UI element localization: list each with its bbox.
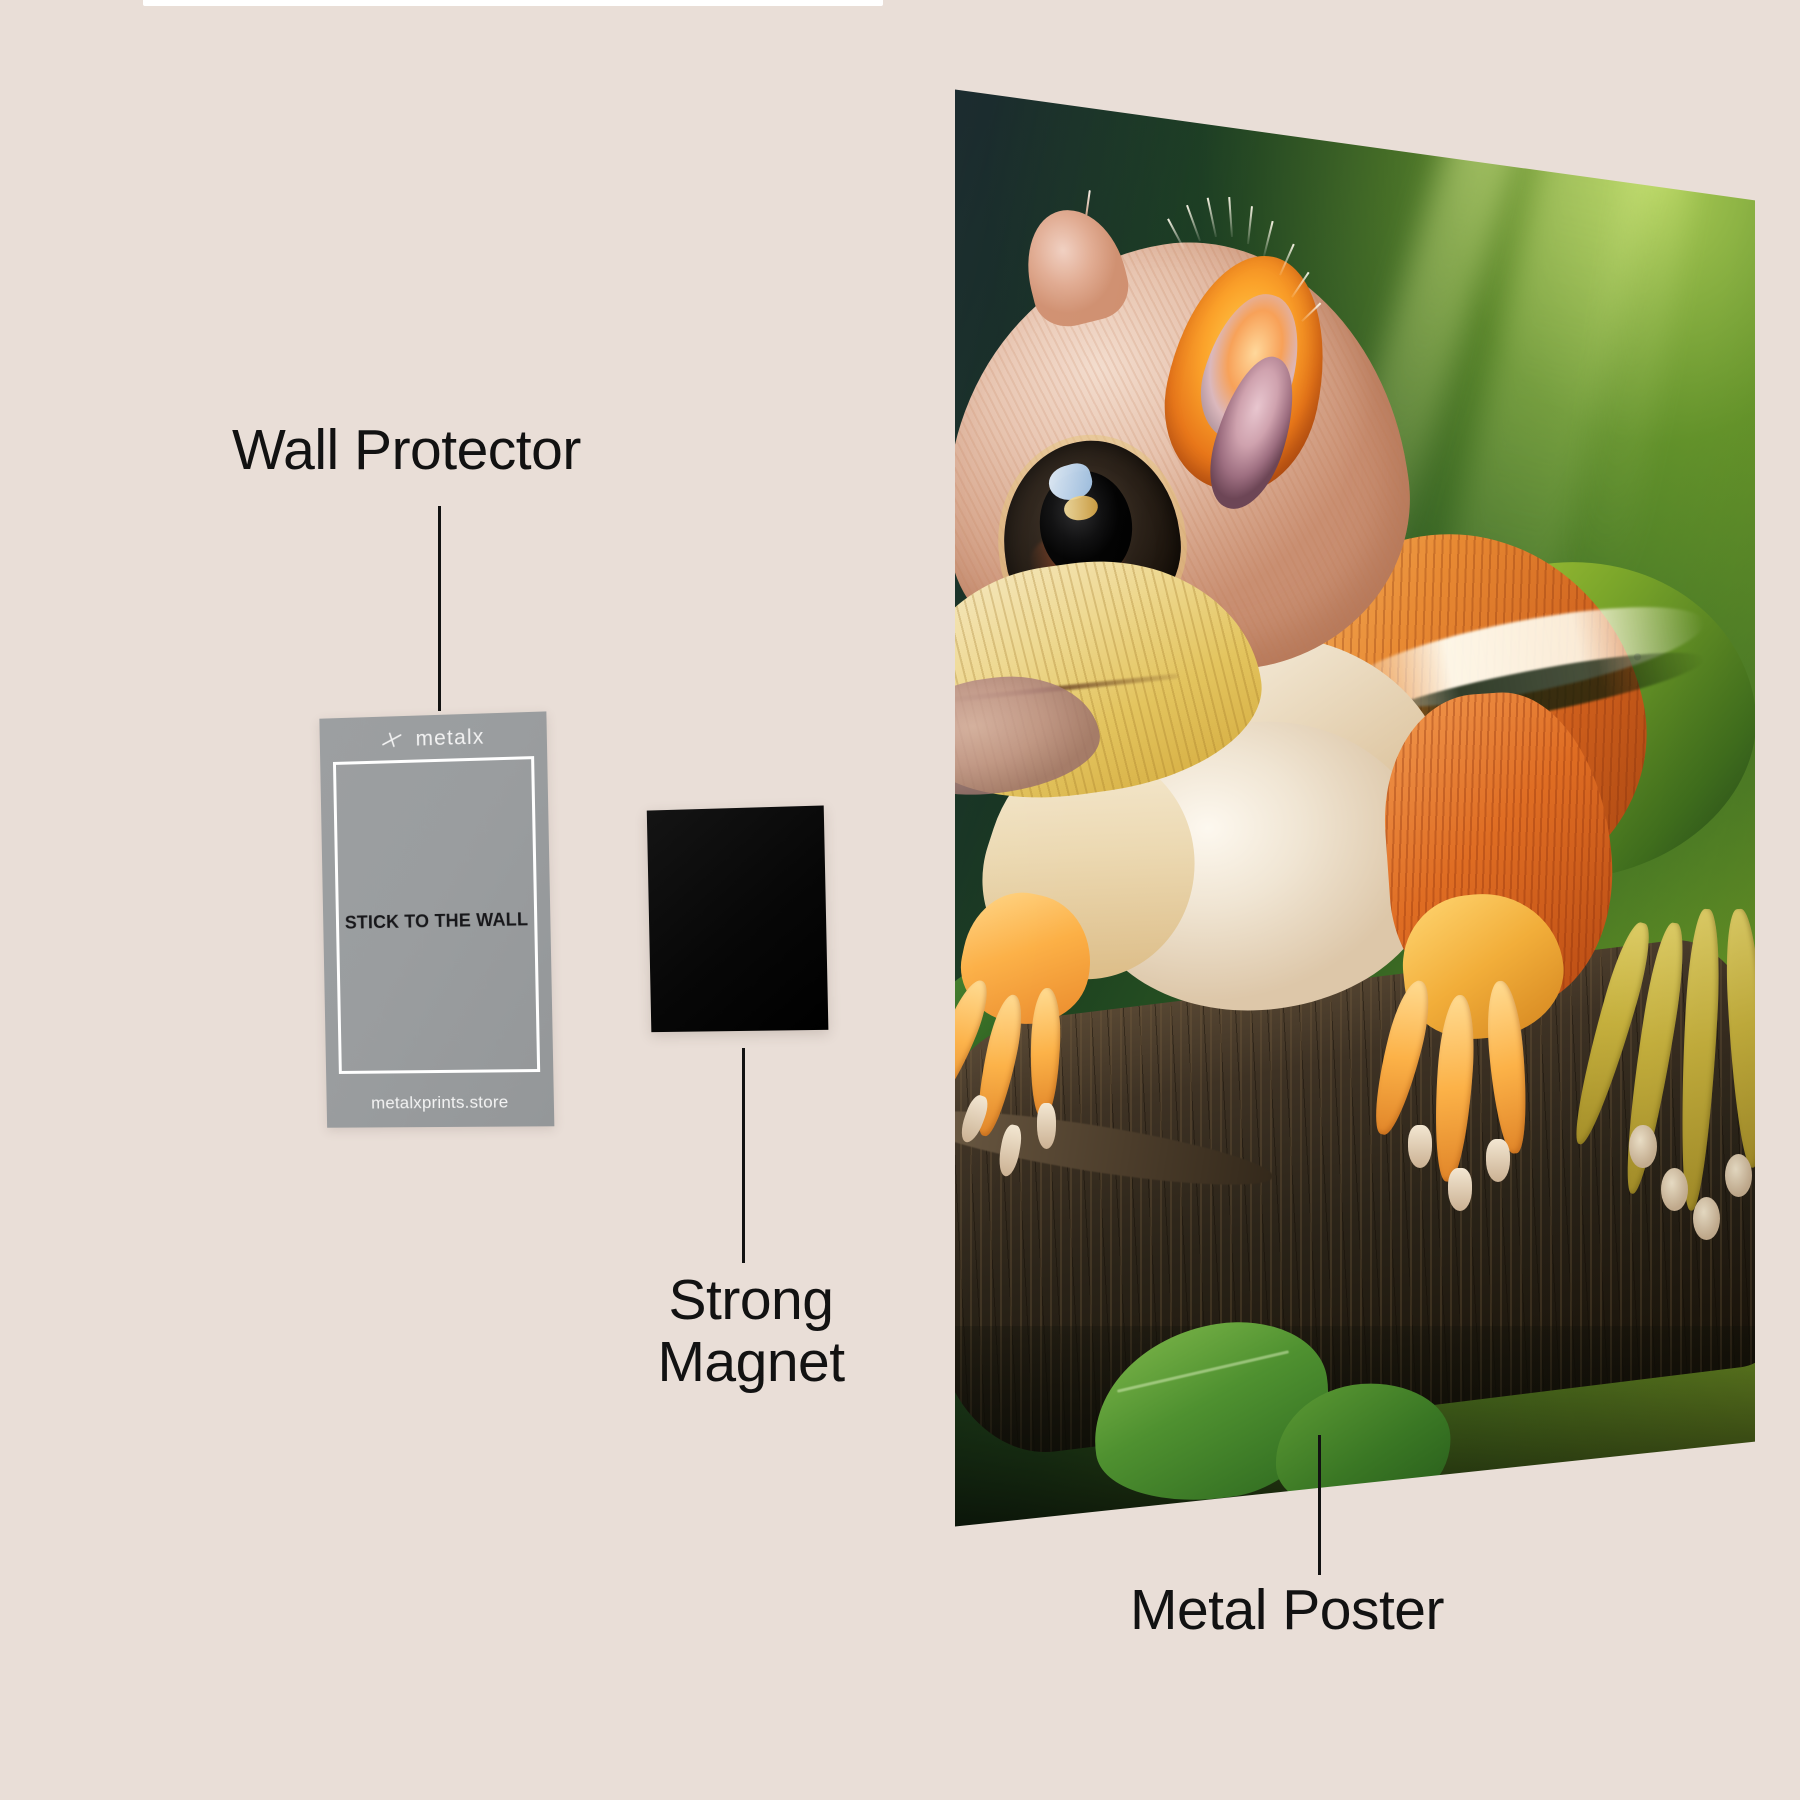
frog-toe-tip xyxy=(1448,1168,1472,1211)
wall-protector-brand-text: metalx xyxy=(415,725,484,751)
leader-line-wall-protector xyxy=(438,506,441,711)
top-white-strip xyxy=(143,0,883,6)
frog-illustration xyxy=(955,88,1755,1528)
ear-hair xyxy=(1247,206,1252,244)
leader-line-metal-poster xyxy=(1318,1435,1321,1575)
ear-hair xyxy=(1207,198,1217,237)
cross-icon xyxy=(381,731,407,750)
poster-artwork xyxy=(955,88,1755,1528)
frog-toe-tip xyxy=(1629,1125,1656,1168)
callout-label-metal-poster: Metal Poster xyxy=(1130,1580,1444,1642)
wall-protector-card: metalx STICK TO THE WALL metalxprints.st… xyxy=(319,711,554,1127)
wall-protector-brand-logo: metalx xyxy=(320,723,547,754)
ear-hair xyxy=(1186,205,1200,241)
frog-toe-tip xyxy=(1693,1197,1720,1240)
callout-label-strong-magnet: Strong Magnet xyxy=(636,1270,866,1393)
ear-hair xyxy=(1228,197,1232,237)
frog-toe-tip xyxy=(1725,1154,1752,1197)
product-infographic: Wall Protector metalx STICK TO THE WALL … xyxy=(0,0,1800,1800)
metal-poster xyxy=(955,88,1755,1528)
frog-head-spike xyxy=(1085,190,1091,216)
ear-hair xyxy=(1263,221,1273,256)
strong-magnet-square xyxy=(647,805,829,1032)
frog-toe-tip xyxy=(1661,1168,1688,1211)
leader-line-strong-magnet xyxy=(742,1048,745,1263)
wall-protector-cta-text: STICK TO THE WALL xyxy=(323,909,551,934)
frog-toe-tip xyxy=(1408,1125,1432,1168)
wall-protector-url-text: metalxprints.store xyxy=(326,1092,554,1114)
callout-label-wall-protector: Wall Protector xyxy=(232,420,581,482)
frog-claw xyxy=(1037,1103,1056,1149)
